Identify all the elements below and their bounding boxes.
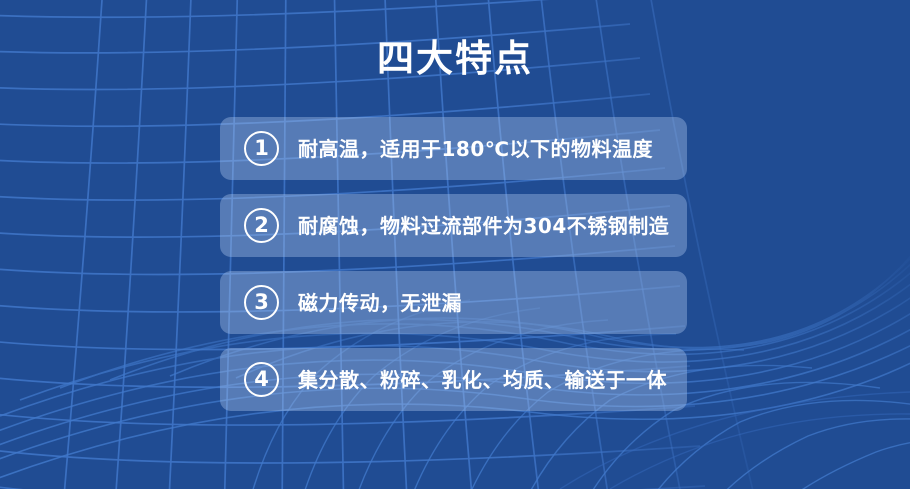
feature-number-badge: 1	[244, 131, 279, 166]
feature-row[interactable]: 1 耐高温，适用于180℃以下的物料温度	[220, 117, 687, 180]
feature-text: 耐高温，适用于180℃以下的物料温度	[298, 136, 673, 162]
feature-poster: 四大特点 1 耐高温，适用于180℃以下的物料温度 2 耐腐蚀，物料过流部件为3…	[0, 0, 910, 489]
feature-row[interactable]: 2 耐腐蚀，物料过流部件为304不锈钢制造	[220, 194, 687, 257]
feature-text: 磁力传动，无泄漏	[298, 290, 673, 316]
feature-text: 耐腐蚀，物料过流部件为304不锈钢制造	[298, 213, 673, 239]
feature-list: 1 耐高温，适用于180℃以下的物料温度 2 耐腐蚀，物料过流部件为304不锈钢…	[220, 117, 687, 411]
feature-number-badge: 3	[244, 285, 279, 320]
poster-content: 四大特点 1 耐高温，适用于180℃以下的物料温度 2 耐腐蚀，物料过流部件为3…	[0, 0, 910, 489]
feature-row[interactable]: 3 磁力传动，无泄漏	[220, 271, 687, 334]
feature-number-badge: 4	[244, 362, 279, 397]
feature-row[interactable]: 4 集分散、粉碎、乳化、均质、输送于一体	[220, 348, 687, 411]
feature-text: 集分散、粉碎、乳化、均质、输送于一体	[298, 367, 673, 393]
page-title: 四大特点	[0, 37, 910, 81]
feature-number-badge: 2	[244, 208, 279, 243]
